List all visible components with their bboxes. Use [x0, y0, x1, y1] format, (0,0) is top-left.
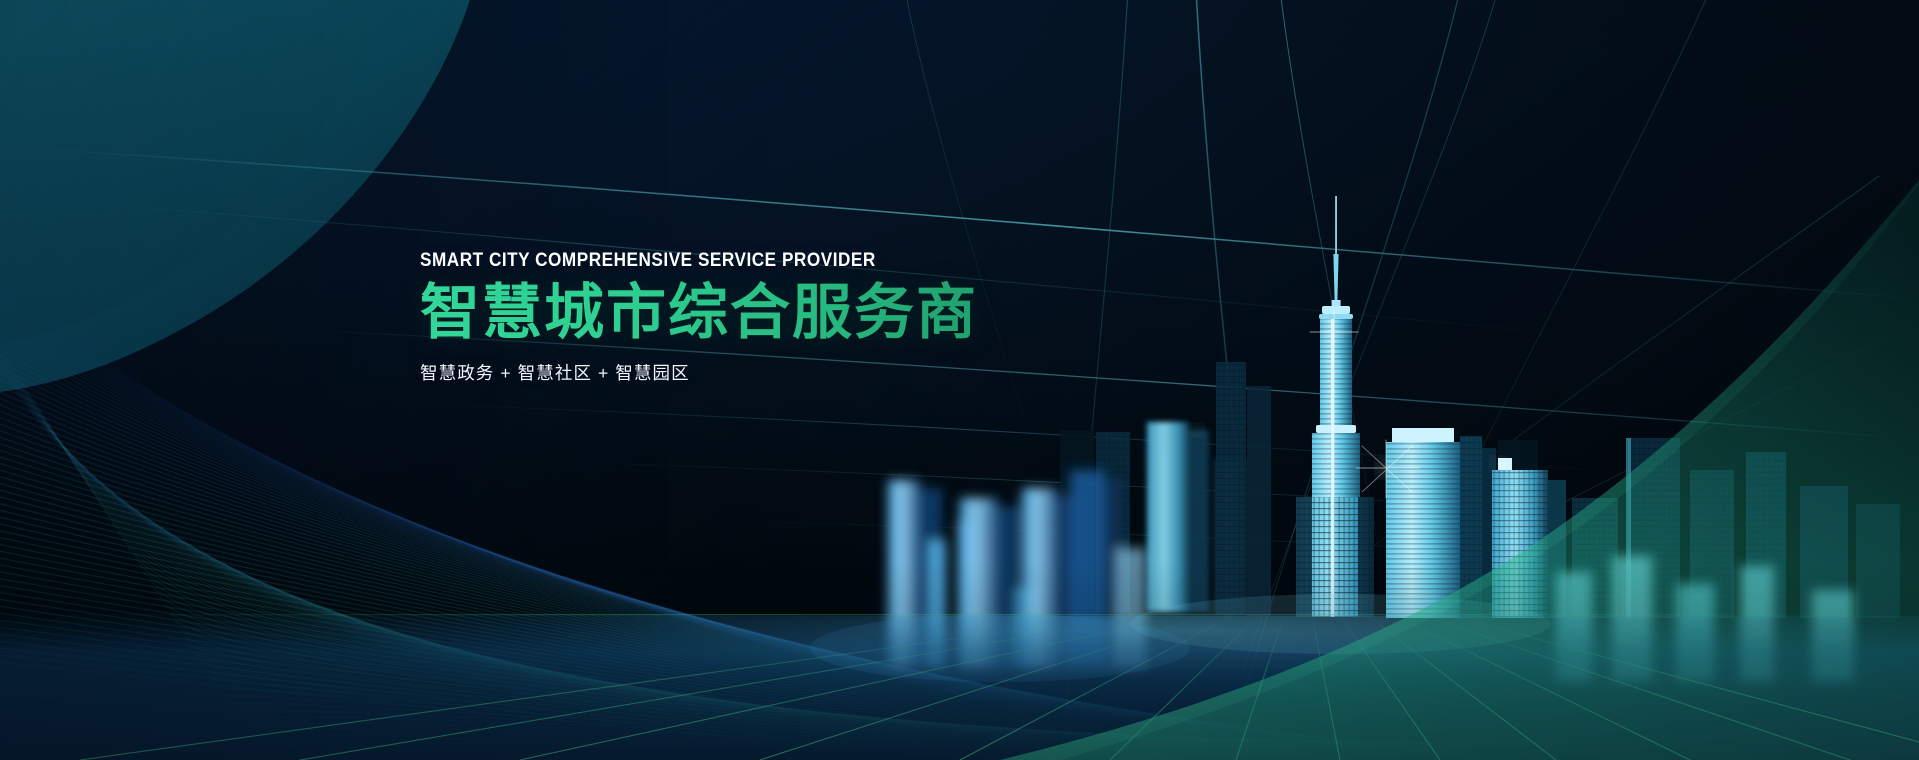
hero-banner: SMART CITY COMPREHENSIVE SERVICE PROVIDE… [0, 0, 1919, 760]
eyebrow-text: SMART CITY COMPREHENSIVE SERVICE PROVIDE… [420, 250, 1089, 271]
hero-text-block: SMART CITY COMPREHENSIVE SERVICE PROVIDE… [420, 250, 1180, 385]
tagline-text: 智慧政务 + 智慧社区 + 智慧园区 [420, 360, 1180, 385]
page-title: 智慧城市综合服务商 [420, 279, 1180, 346]
